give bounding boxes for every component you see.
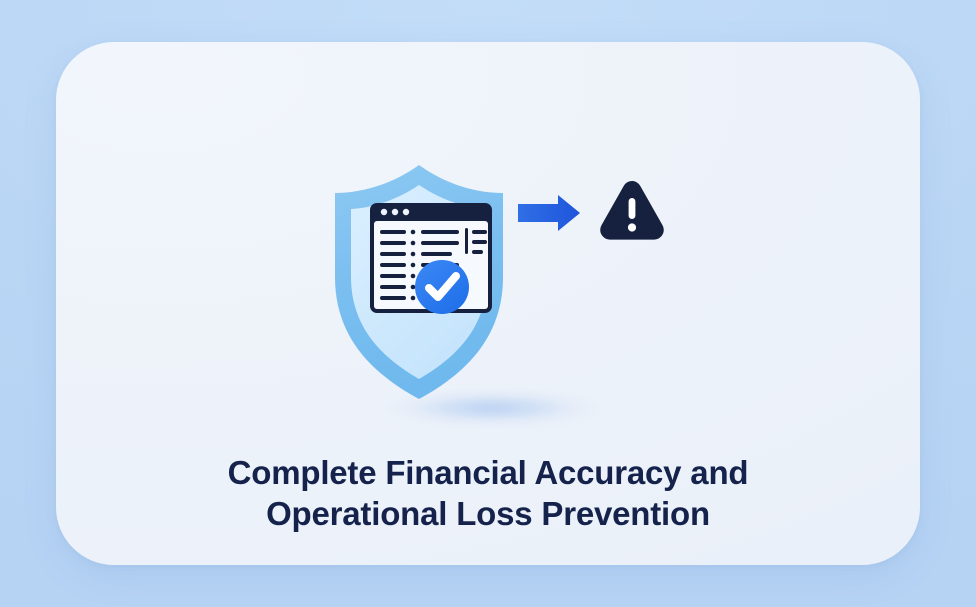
- illustration-area: [56, 42, 920, 442]
- check-badge: [415, 260, 469, 314]
- shield-document-alert-illustration: [56, 42, 920, 442]
- page-title-line-1: Complete Financial Accuracy and: [56, 452, 920, 493]
- exclamation-bar: [629, 198, 636, 219]
- warning-triangle-icon: [600, 181, 664, 240]
- window-dots: [381, 209, 409, 215]
- page-title-line-2: Operational Loss Prevention: [56, 493, 920, 534]
- slide-canvas: Complete Financial Accuracy and Operatio…: [0, 0, 976, 607]
- right-arrow-icon: [518, 195, 580, 231]
- page-title: Complete Financial Accuracy and Operatio…: [56, 452, 920, 534]
- exclamation-dot: [628, 223, 636, 231]
